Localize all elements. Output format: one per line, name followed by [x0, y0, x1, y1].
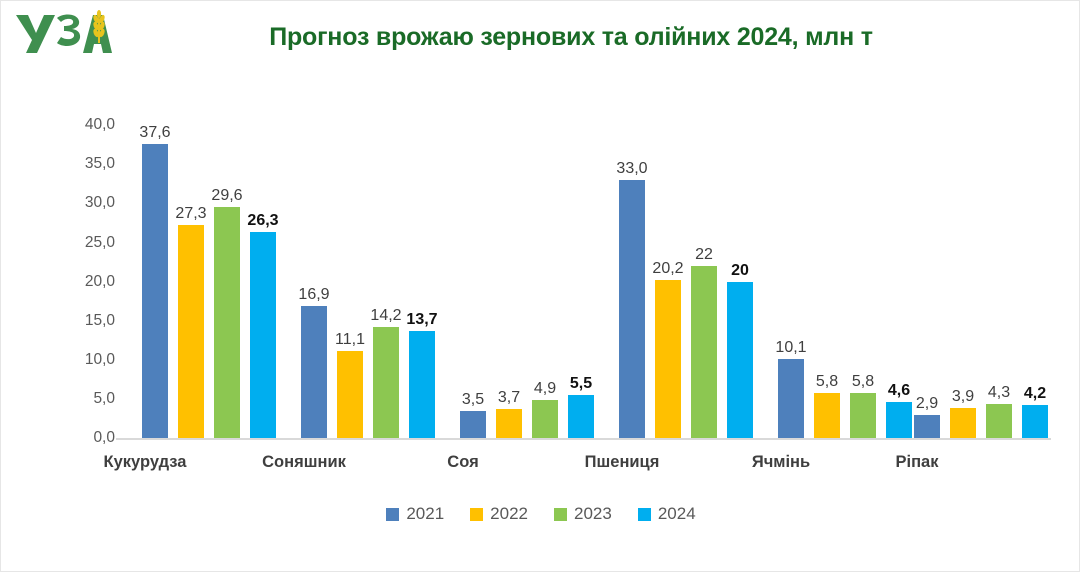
bar-value-label: 26,3: [241, 212, 285, 230]
bar-2022-Ячмінь[interactable]: [814, 393, 840, 438]
y-axis-tick-label: 25,0: [41, 234, 115, 252]
y-axis-tick-label: 0,0: [41, 429, 115, 447]
bar-group-bars: 33,020,22220: [619, 138, 753, 438]
legend-swatch-icon: [638, 508, 651, 521]
y-axis-tick-label: 20,0: [41, 273, 115, 291]
bar-2023-Соя[interactable]: [532, 400, 558, 438]
bar-value-label: 4,2: [1013, 385, 1057, 403]
legend-item-2023[interactable]: 2023: [554, 504, 612, 524]
legend-label: 2024: [658, 504, 696, 524]
bar-2021-Соя[interactable]: [460, 411, 486, 438]
bar-2024-Пшениця[interactable]: [727, 282, 753, 438]
bar-value-label: 11,1: [328, 331, 372, 349]
bar-2023-Ячмінь[interactable]: [850, 393, 876, 438]
legend-label: 2023: [574, 504, 612, 524]
bar-group: 37,627,329,626,3: [142, 138, 276, 438]
bar-2022-Кукурудза[interactable]: [178, 225, 204, 438]
bar-2023-Пшениця[interactable]: [691, 266, 717, 438]
x-axis-line: [116, 438, 1051, 440]
y-axis-tick-label: 30,0: [41, 194, 115, 212]
bar-group-bars: 10,15,85,84,6: [778, 138, 912, 438]
bar-2024-Соняшник[interactable]: [409, 331, 435, 438]
bar-2023-Соняшник[interactable]: [373, 327, 399, 438]
y-axis-tick-label: 40,0: [41, 116, 115, 134]
legend-swatch-icon: [470, 508, 483, 521]
y-axis-tick-label: 15,0: [41, 312, 115, 330]
bar-2022-Соя[interactable]: [496, 409, 522, 438]
bar-value-label: 13,7: [400, 311, 444, 329]
bar-value-label: 37,6: [133, 124, 177, 142]
bar-group-bars: 2,93,94,34,2: [914, 138, 1048, 438]
legend-item-2021[interactable]: 2021: [386, 504, 444, 524]
bar-group: 10,15,85,84,6: [778, 138, 912, 438]
bar-2022-Соняшник[interactable]: [337, 351, 363, 438]
bar-value-label: 20: [718, 262, 762, 280]
legend-label: 2022: [490, 504, 528, 524]
bar-2024-Соя[interactable]: [568, 395, 594, 438]
bar-group-bars: 16,911,114,213,7: [301, 138, 435, 438]
bar-chart-plot: 40,035,030,025,020,015,010,05,00,0 37,62…: [1, 1, 1080, 572]
y-axis-tick-label: 10,0: [41, 351, 115, 369]
bar-value-label: 10,1: [769, 339, 813, 357]
bar-2021-Соняшник[interactable]: [301, 306, 327, 438]
legend-item-2022[interactable]: 2022: [470, 504, 528, 524]
bar-value-label: 5,5: [559, 375, 603, 393]
legend-swatch-icon: [554, 508, 567, 521]
bar-value-label: 16,9: [292, 286, 336, 304]
bar-2023-Кукурудза[interactable]: [214, 207, 240, 438]
bar-group-bars: 37,627,329,626,3: [142, 138, 276, 438]
bar-2024-Кукурудза[interactable]: [250, 232, 276, 438]
bar-2021-Пшениця[interactable]: [619, 180, 645, 438]
bar-value-label: 27,3: [169, 205, 213, 223]
legend-item-2024[interactable]: 2024: [638, 504, 696, 524]
bar-2021-Ячмінь[interactable]: [778, 359, 804, 438]
y-axis-tick-label: 35,0: [41, 155, 115, 173]
bar-2021-Кукурудза[interactable]: [142, 144, 168, 438]
bar-value-label: 33,0: [610, 160, 654, 178]
bar-2024-Ріпак[interactable]: [1022, 405, 1048, 438]
legend-label: 2021: [406, 504, 444, 524]
bar-group: 3,53,74,95,5: [460, 138, 594, 438]
bar-2022-Ріпак[interactable]: [950, 408, 976, 438]
bar-group: 33,020,22220: [619, 138, 753, 438]
chart-legend: 2021202220232024: [1, 504, 1080, 524]
bar-value-label: 29,6: [205, 187, 249, 205]
bar-group: 2,93,94,34,2: [914, 138, 1048, 438]
bar-2021-Ріпак[interactable]: [914, 415, 940, 438]
x-axis-label-Ріпак: Ріпак: [817, 453, 1017, 472]
bar-group-bars: 3,53,74,95,5: [460, 138, 594, 438]
bar-2022-Пшениця[interactable]: [655, 280, 681, 438]
bar-group: 16,911,114,213,7: [301, 138, 435, 438]
chart-page: Прогноз врожаю зернових та олійних 2024,…: [0, 0, 1080, 572]
bar-2023-Ріпак[interactable]: [986, 404, 1012, 438]
y-axis-tick-label: 5,0: [41, 390, 115, 408]
legend-swatch-icon: [386, 508, 399, 521]
